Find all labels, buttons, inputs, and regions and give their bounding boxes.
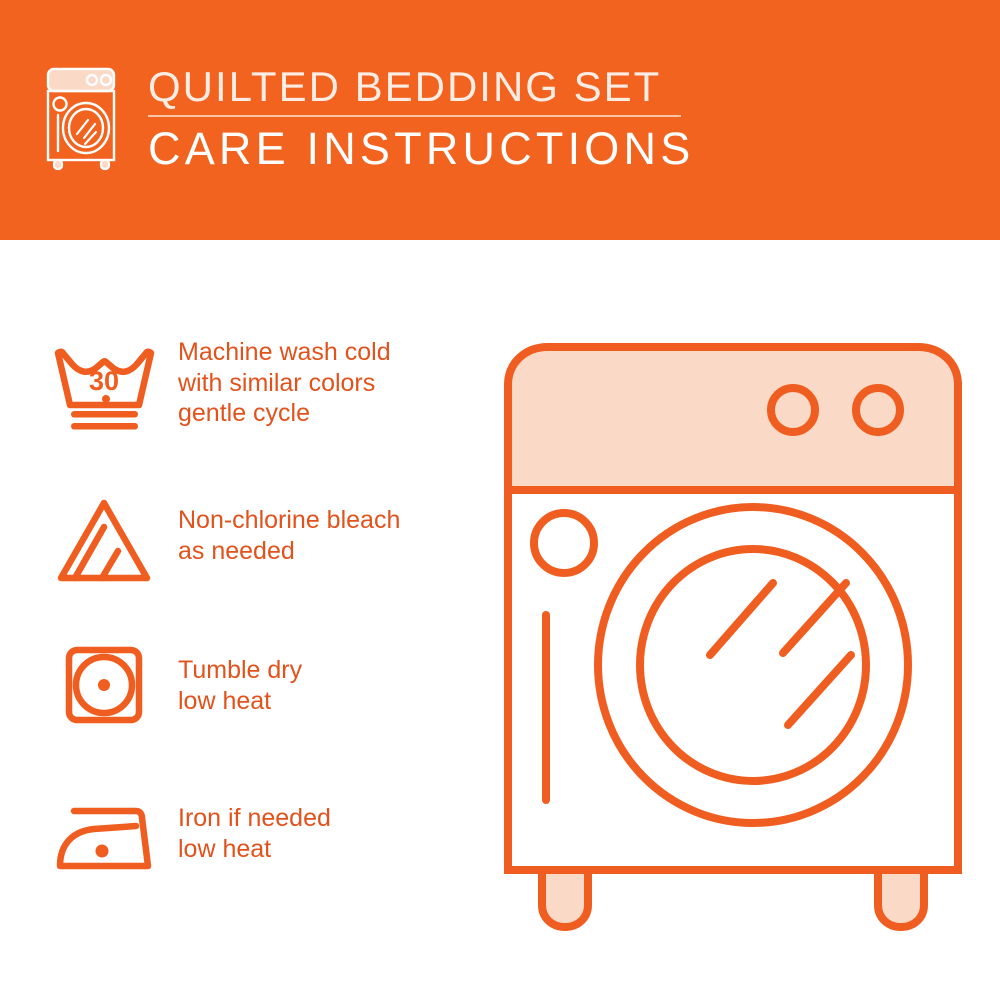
- wash-tub-30-gentle-icon: 30: [52, 343, 156, 438]
- care-text-line: low heat: [178, 834, 474, 865]
- page-header: QUILTED BEDDING SET CARE INSTRUCTIONS: [0, 0, 1000, 240]
- page-body: 30 Machine wash cold with similar colors…: [0, 240, 1000, 1000]
- header-title-block: QUILTED BEDDING SET CARE INSTRUCTIONS: [148, 62, 694, 173]
- care-text-line: Tumble dry: [178, 655, 474, 686]
- care-text-line: low heat: [178, 686, 474, 717]
- knob-left-icon: [771, 388, 815, 432]
- care-symbol-iron: [44, 785, 164, 895]
- care-text-wash: Machine wash cold with similar colors ge…: [164, 335, 474, 429]
- tumble-dry-low-heat-icon: [52, 643, 156, 738]
- leg-left: [542, 870, 588, 927]
- care-row-bleach: Non-chlorine bleach as needed: [44, 485, 474, 635]
- leg-right: [878, 870, 924, 927]
- iron-low-heat-icon: [52, 793, 156, 888]
- care-text-line: with similar colors: [178, 368, 474, 399]
- header-content: QUILTED BEDDING SET CARE INSTRUCTIONS: [44, 62, 694, 174]
- care-text-tumble-dry: Tumble dry low heat: [164, 635, 474, 716]
- care-symbol-tumble-dry: [44, 635, 164, 745]
- care-text-line: gentle cycle: [178, 398, 474, 429]
- page-title: QUILTED BEDDING SET: [148, 64, 694, 110]
- care-row-wash: 30 Machine wash cold with similar colors…: [44, 335, 474, 485]
- knob-right-icon: [856, 388, 900, 432]
- care-row-iron: Iron if needed low heat: [44, 785, 474, 935]
- care-instruction-list: 30 Machine wash cold with similar colors…: [44, 335, 474, 935]
- care-text-line: Non-chlorine bleach: [178, 505, 474, 536]
- care-text-bleach: Non-chlorine bleach as needed: [164, 485, 474, 566]
- care-text-line: Iron if needed: [178, 803, 474, 834]
- care-symbol-wash: 30: [44, 335, 164, 445]
- care-text-line: Machine wash cold: [178, 337, 474, 368]
- washing-machine-icon: [44, 66, 122, 174]
- care-symbol-bleach: [44, 485, 164, 595]
- washing-machine-illustration-wrapper: [488, 335, 988, 955]
- title-divider: [148, 115, 681, 117]
- front-load-washing-machine-illustration: [488, 335, 988, 955]
- care-text-line: as needed: [178, 536, 474, 567]
- care-instructions-page: QUILTED BEDDING SET CARE INSTRUCTIONS 30: [0, 0, 1000, 1000]
- non-chlorine-bleach-triangle-icon: [52, 493, 156, 588]
- care-text-iron: Iron if needed low heat: [164, 785, 474, 864]
- care-row-tumble-dry: Tumble dry low heat: [44, 635, 474, 785]
- wash-temp-label: 30: [89, 366, 119, 396]
- page-subtitle: CARE INSTRUCTIONS: [148, 125, 694, 173]
